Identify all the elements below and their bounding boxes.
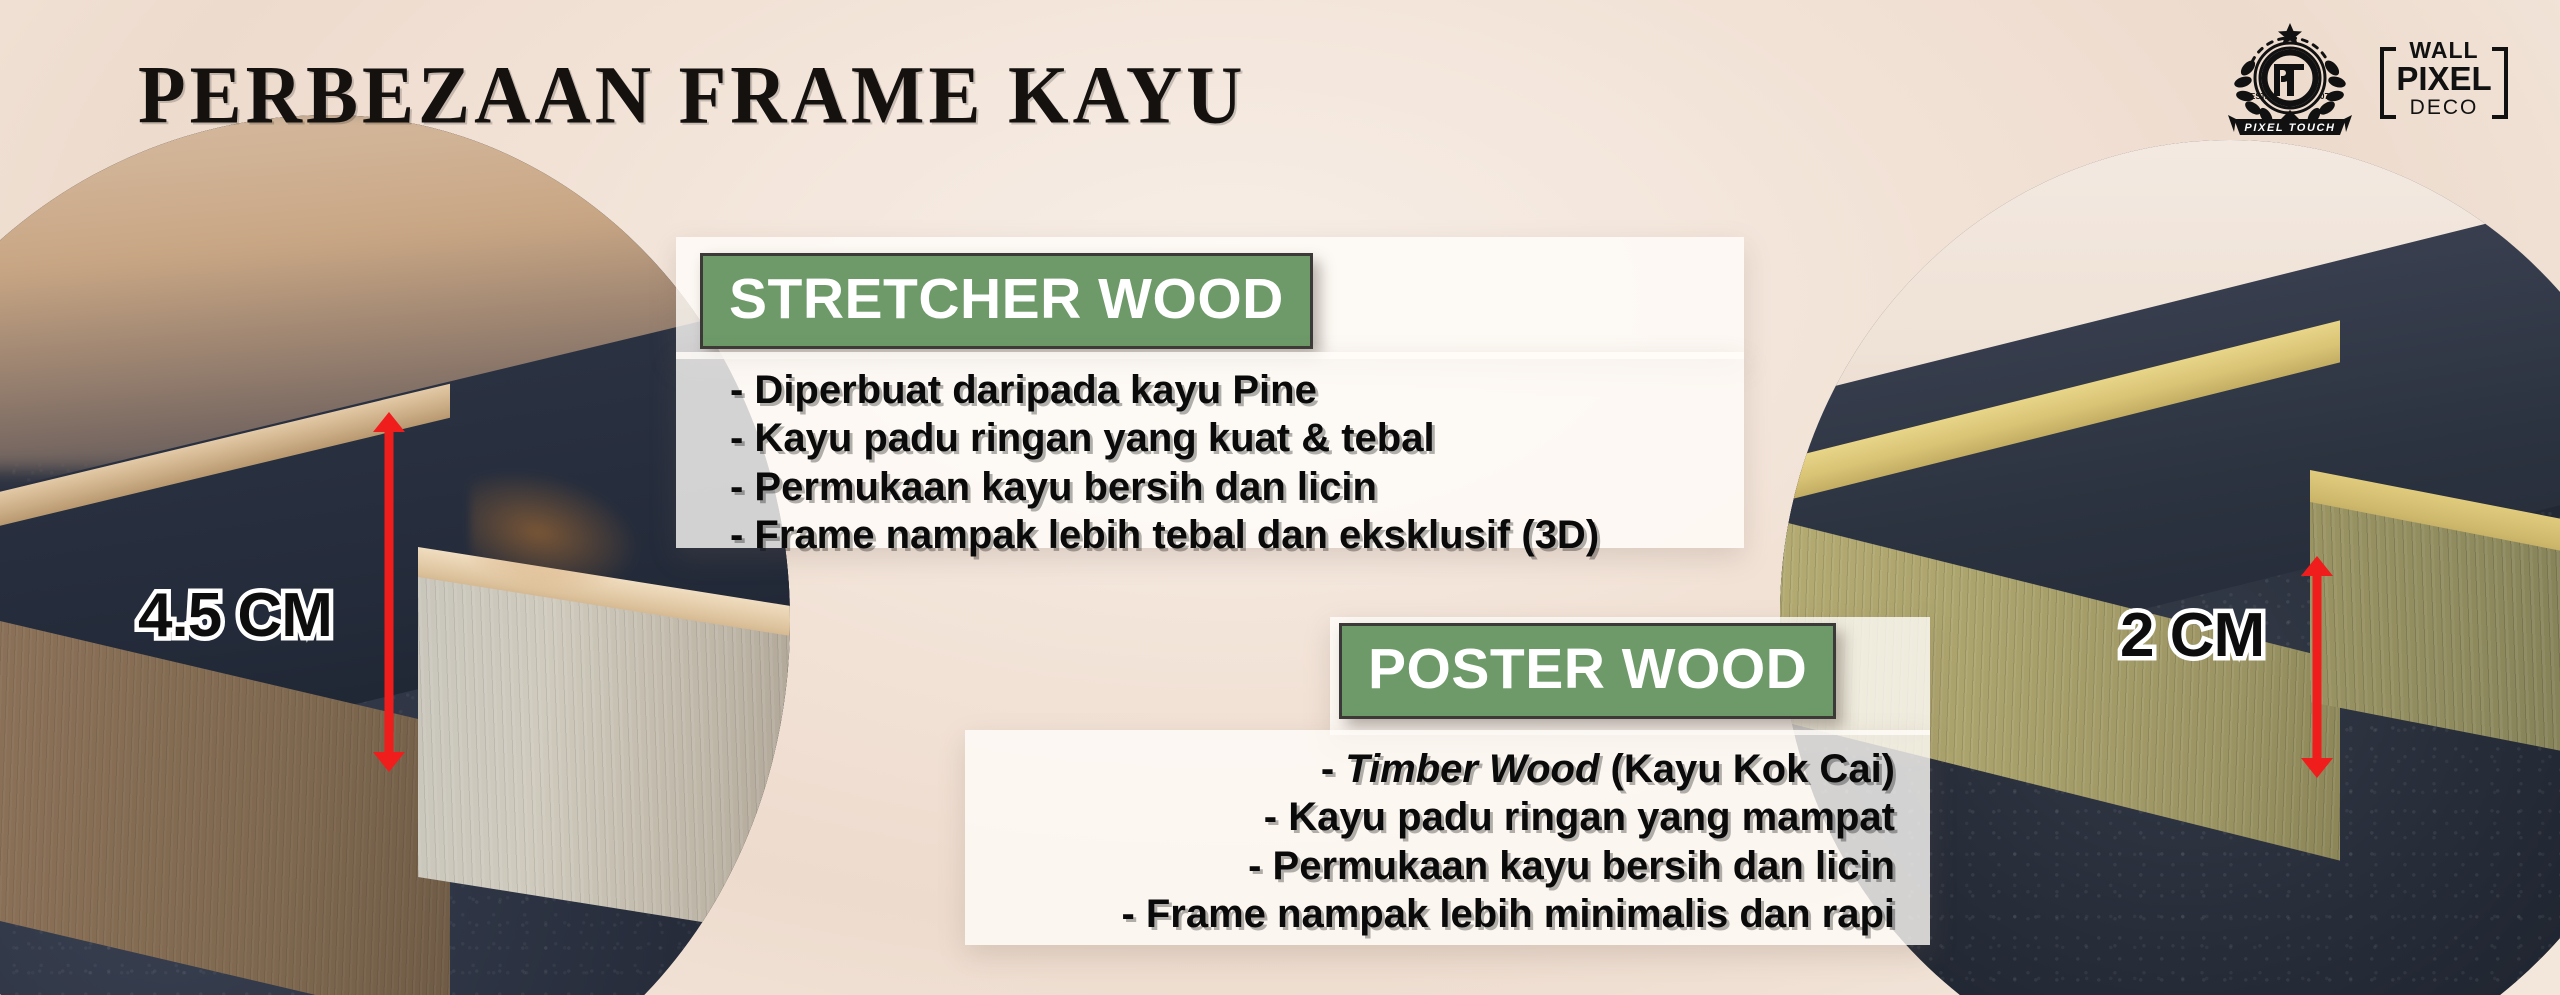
list-item: - Frame nampak lebih minimalis dan rapi — [965, 890, 1895, 938]
ribbon-text: PIXEL TOUCH — [2244, 122, 2335, 134]
list-item: - Permukaan kayu bersih dan licin — [965, 842, 1895, 890]
bracket-right-icon — [2492, 47, 2508, 119]
list-item: - Permukaan kayu bersih dan licin — [730, 463, 1599, 511]
est-label: EST. — [2250, 92, 2267, 101]
arrow-head-down-icon — [373, 752, 405, 772]
measure-arrow-poster — [2300, 556, 2334, 778]
stretcher-feature-list: - Diperbuat daripada kayu Pine - Kayu pa… — [730, 366, 1599, 560]
measurement-label-poster: 2 CM — [2120, 600, 2264, 671]
poster-wood-badge[interactable]: POSTER WOOD — [1339, 623, 1836, 719]
logo-line-pixel: PIXEL — [2396, 62, 2491, 96]
bracket-left-icon — [2380, 47, 2396, 119]
list-item: - Kayu padu ringan yang mampat — [965, 793, 1895, 841]
page-title: PERBEZAAN FRAME KAYU — [138, 47, 1247, 142]
poster-feature-list: - Timber Wood (Kayu Kok Cai) - Kayu padu… — [965, 745, 1895, 939]
arrow-shaft — [385, 426, 394, 758]
logo-line-deco: DECO — [2410, 96, 2479, 119]
list-item: - Diperbuat daripada kayu Pine — [730, 366, 1599, 414]
logo-area: PIXEL TOUCH EST. 07 WALL PIXEL DECO — [2228, 20, 2508, 138]
list-item: - Timber Wood (Kayu Kok Cai) — [965, 745, 1895, 793]
list-item-emphasis: Timber Wood — [1345, 747, 1599, 791]
poster-badge-wrapper: POSTER WOOD — [1339, 623, 1836, 719]
poster-canvas: 4.5 CM 2 CM PERBEZAAN FRAME KAYU STRETCH… — [0, 0, 2560, 995]
measurement-label-stretcher: 4.5 CM — [138, 580, 332, 651]
list-item: - Frame nampak lebih tebal dan eksklusif… — [730, 511, 1599, 559]
arrow-shaft — [2313, 570, 2322, 764]
list-item-prefix: - — [1321, 747, 1345, 791]
list-item-suffix: (Kayu Kok Cai) — [1599, 747, 1895, 791]
stretcher-badge-wrapper: STRETCHER WOOD — [700, 253, 1313, 349]
arrow-head-down-icon — [2301, 758, 2333, 778]
pixel-touch-badge-logo[interactable]: PIXEL TOUCH EST. 07 — [2228, 20, 2352, 138]
measure-arrow-stretcher — [372, 412, 406, 772]
list-item: - Kayu padu ringan yang kuat & tebal — [730, 414, 1599, 462]
logo-line-wall: WALL — [2409, 39, 2478, 62]
wall-pixel-deco-logo[interactable]: WALL PIXEL DECO — [2380, 33, 2508, 125]
stretcher-wood-badge[interactable]: STRETCHER WOOD — [700, 253, 1313, 349]
pixel-touch-emblem-icon: PIXEL TOUCH EST. 07 — [2228, 20, 2352, 138]
est-year: 07 — [2320, 92, 2329, 101]
